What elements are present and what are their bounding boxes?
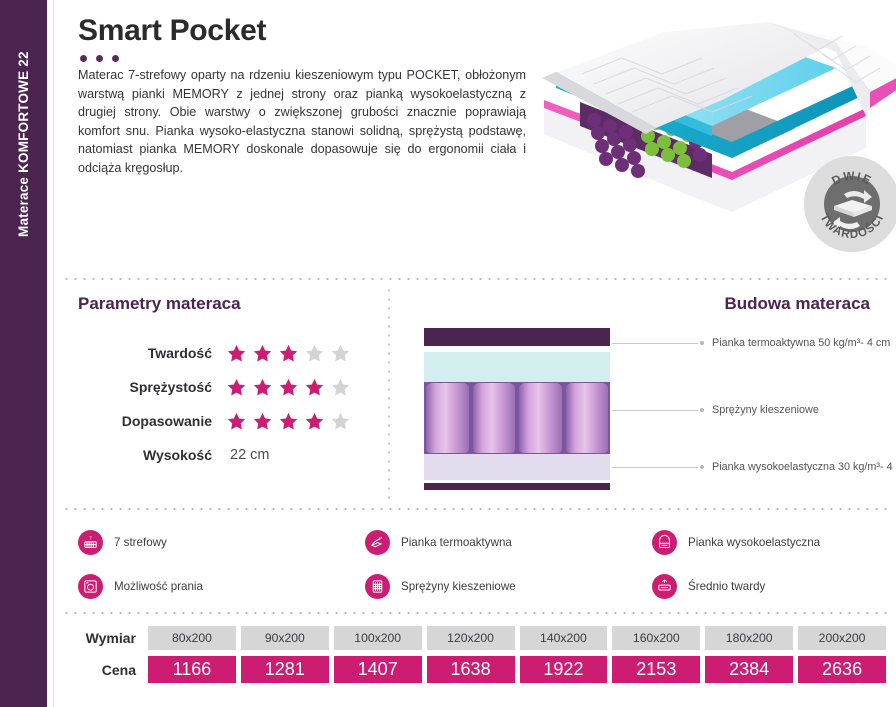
mattress-product-image: DWIE TWARDOŚCI (536, 16, 896, 231)
callout-dot (700, 341, 704, 345)
title-dots-decoration (80, 55, 119, 62)
pocket-spring-cylinders (424, 382, 610, 454)
sidebar-category-label: Materace KOMFORTOWE 22 (16, 51, 31, 707)
feature-label: Pianka wysokoelastyczna (677, 536, 820, 549)
feature-label: Pianka termoaktywna (390, 536, 512, 549)
layer-cover-bottom (424, 483, 610, 490)
pocket-springs-icon (365, 574, 390, 599)
rating-stars-elasticity (226, 377, 351, 398)
dwie-twardosci-seal-icon: DWIE TWARDOŚCI (804, 156, 896, 252)
star-filled-icon (226, 411, 247, 432)
price-cell: 2153 (612, 656, 700, 683)
sidebar-divider (53, 0, 54, 707)
star-filled-icon (304, 411, 325, 432)
parameters-section: Parametry materaca Twardość Sprężystość … (78, 294, 378, 472)
parameter-row-firmness: Twardość (78, 336, 378, 370)
star-filled-icon (278, 411, 299, 432)
parameter-label: Dopasowanie (78, 413, 226, 429)
star-filled-icon (278, 343, 299, 364)
parameter-label-height: Wysokość (78, 447, 226, 463)
parameter-row-elasticity: Sprężystość (78, 370, 378, 404)
price-cell: 2384 (705, 656, 793, 683)
star-filled-icon (252, 411, 273, 432)
size-cell: 200x200 (798, 626, 886, 650)
page-title: Smart Pocket (78, 14, 266, 48)
thermoactive-foam-icon (365, 530, 390, 555)
price-cell: 2636 (798, 656, 886, 683)
pricing-row-sizes: Wymiar 80x20090x200100x200120x200140x200… (70, 624, 886, 651)
price-cell: 1922 (520, 656, 608, 683)
layer-cover-top (424, 328, 610, 346)
size-cell: 90x200 (241, 626, 329, 650)
layer-label-elastic: Pianka wysokoelastyczna 30 kg/m³- 4 cm (712, 461, 896, 473)
star-empty-icon (330, 411, 351, 432)
feature-label: 7 strefowy (103, 536, 167, 549)
two-firmness-badge: DWIE TWARDOŚCI (804, 156, 896, 252)
svg-text:7: 7 (89, 535, 92, 541)
parameter-row-adaptation: Dopasowanie (78, 404, 378, 438)
callout-dot (700, 465, 704, 469)
feature-label: Możliwość prania (103, 580, 203, 593)
star-empty-icon (304, 343, 325, 364)
feature-item-highly-elastic-foam: Pianka wysokoelastyczna (652, 520, 896, 564)
size-cell: 100x200 (334, 626, 422, 650)
pricing-row-prices: Cena 11661281140716381922215323842636 (70, 656, 886, 683)
price-cell: 1281 (241, 656, 329, 683)
pricing-label-size: Wymiar (70, 630, 148, 646)
price-cell: 1407 (334, 656, 422, 683)
layer-highly-elastic-foam (424, 454, 610, 480)
size-cell: 160x200 (612, 626, 700, 650)
layer-label-springs: Sprężyny kieszeniowe (712, 404, 819, 416)
layer-label-thermoactive: Pianka termoaktywna 50 kg/m³- 4 cm (712, 337, 890, 349)
hero-section: Smart Pocket Materac 7-strefowy oparty n… (56, 0, 896, 272)
highly-elastic-foam-icon (652, 530, 677, 555)
star-filled-icon (252, 377, 273, 398)
rating-stars-adaptation (226, 411, 351, 432)
star-filled-icon (226, 377, 247, 398)
feature-item-7-zones: 7 7 strefowy (78, 520, 368, 564)
parameter-row-height: Wysokość 22 cm (78, 438, 378, 472)
feature-item-pocket-springs: Sprężyny kieszeniowe (365, 564, 655, 608)
layer-thermoactive-foam (424, 352, 610, 382)
divider-top (62, 278, 890, 280)
rating-stars-firmness (226, 343, 351, 364)
star-empty-icon (330, 377, 351, 398)
features-section: 7 7 strefowy Możliwość prania (78, 520, 882, 608)
star-filled-icon (304, 377, 325, 398)
divider-vertical (388, 286, 390, 500)
product-sheet: Materace KOMFORTOWE 22 Smart Pocket Mate… (0, 0, 896, 707)
feature-item-washable: Możliwość prania (78, 564, 368, 608)
price-cell: 1638 (427, 656, 515, 683)
seven-zones-icon: 7 (78, 530, 103, 555)
star-empty-icon (330, 343, 351, 364)
feature-label: Średnio twardy (677, 580, 765, 593)
construction-title: Budowa materaca (725, 294, 871, 314)
size-cell: 120x200 (427, 626, 515, 650)
parameter-value-height: 22 cm (226, 447, 270, 463)
parameter-label: Sprężystość (78, 379, 226, 395)
feature-item-thermoactive-foam: Pianka termoaktywna (365, 520, 655, 564)
feature-item-medium-firm: Średnio twardy (652, 564, 896, 608)
divider-bottom (62, 612, 890, 614)
divider-middle (62, 508, 890, 510)
size-cell: 80x200 (148, 626, 236, 650)
size-cell: 140x200 (520, 626, 608, 650)
callout-dot (700, 408, 704, 412)
star-filled-icon (226, 343, 247, 364)
construction-section: Budowa materaca Pianka termoaktywna 50 k… (400, 294, 886, 504)
price-cells: 11661281140716381922215323842636 (148, 656, 886, 683)
mattress-cross-section-diagram (424, 328, 610, 490)
pricing-label-price: Cena (70, 662, 148, 678)
feature-label: Sprężyny kieszeniowe (390, 580, 516, 593)
medium-firm-icon (652, 574, 677, 599)
size-cell: 180x200 (705, 626, 793, 650)
size-cells: 80x20090x200100x200120x200140x200160x200… (148, 626, 886, 650)
washable-icon (78, 574, 103, 599)
pricing-table: Wymiar 80x20090x200100x200120x200140x200… (70, 624, 886, 688)
product-description: Materac 7-strefowy oparty na rdzeniu kie… (78, 66, 526, 178)
parameter-label: Twardość (78, 345, 226, 361)
parameters-title: Parametry materaca (78, 294, 378, 314)
sidebar-category-band: Materace KOMFORTOWE 22 (0, 0, 47, 707)
star-filled-icon (278, 377, 299, 398)
layer-callouts: Pianka termoaktywna 50 kg/m³- 4 cm Spręż… (612, 328, 872, 490)
price-cell: 1166 (148, 656, 236, 683)
star-filled-icon (252, 343, 273, 364)
